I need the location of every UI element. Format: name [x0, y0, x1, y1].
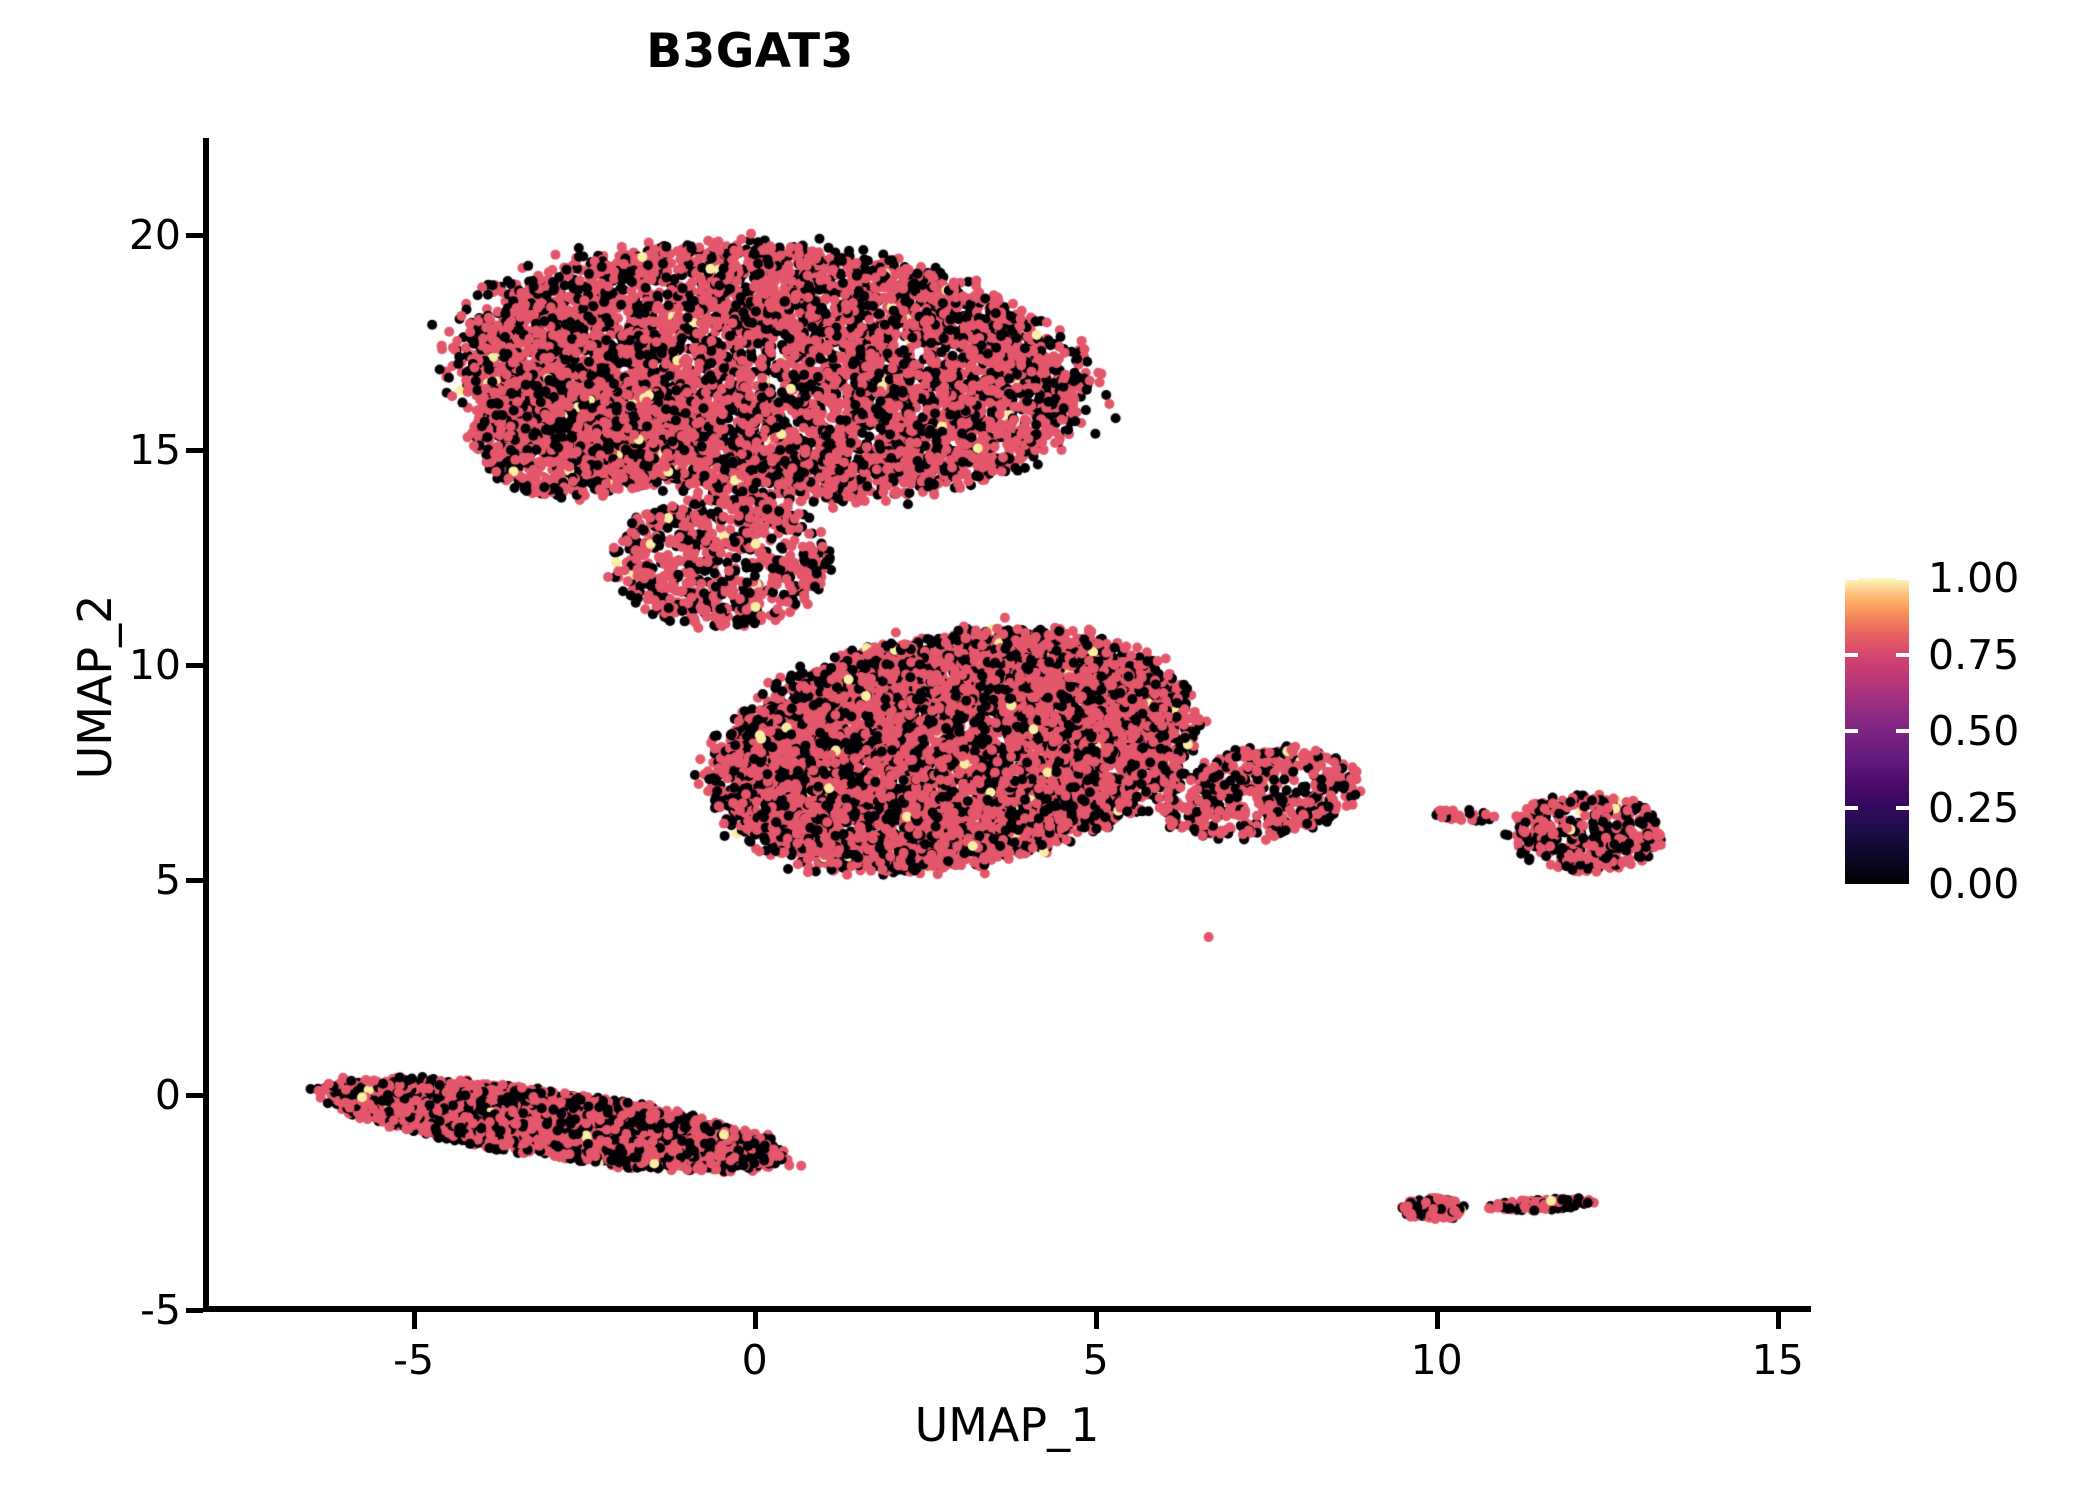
- y-tick-label: 15: [129, 426, 181, 474]
- scatter-points-canvas: [209, 140, 1805, 1310]
- colorbar-tick-label: 0.75: [1928, 631, 2019, 679]
- y-tick-label: -5: [140, 1286, 181, 1334]
- colorbar-tick-label: 0.00: [1928, 860, 2019, 908]
- x-tick-label: -5: [393, 1336, 434, 1384]
- colorbar-tick-label: 0.25: [1928, 784, 2019, 832]
- x-axis-spine: [203, 1306, 1811, 1312]
- plot-area: [209, 140, 1805, 1310]
- page-title: B3GAT3: [0, 26, 1500, 78]
- x-tick-label: 0: [742, 1336, 768, 1384]
- colorbar-tick-label: 0.50: [1928, 707, 2019, 755]
- colorbar-tick-mark: [1896, 729, 1909, 733]
- colorbar-tick-mark: [1845, 806, 1858, 810]
- y-tick-label: 0: [155, 1071, 181, 1119]
- colorbar: [1845, 578, 1909, 884]
- y-tick-mark: [186, 1093, 203, 1098]
- x-axis-label: UMAP_1: [209, 1398, 1805, 1452]
- y-tick-label: 20: [129, 211, 181, 259]
- y-tick-label: 10: [129, 641, 181, 689]
- x-tick-mark: [1094, 1312, 1099, 1329]
- y-tick-mark: [186, 1308, 203, 1313]
- x-tick-mark: [412, 1312, 417, 1329]
- y-tick-mark: [186, 448, 203, 453]
- x-tick-label: 10: [1411, 1336, 1463, 1384]
- x-tick-mark: [1776, 1312, 1781, 1329]
- x-tick-label: 5: [1083, 1336, 1109, 1384]
- x-tick-mark: [753, 1312, 758, 1329]
- colorbar-tick-mark: [1896, 576, 1909, 580]
- colorbar-tick-mark: [1896, 806, 1909, 810]
- x-tick-label: 15: [1752, 1336, 1804, 1384]
- y-tick-mark: [186, 233, 203, 238]
- colorbar-tick-mark: [1845, 576, 1858, 580]
- colorbar-tick-label: 1.00: [1928, 554, 2019, 602]
- y-tick-label: 5: [155, 856, 181, 904]
- y-tick-mark: [186, 878, 203, 883]
- y-tick-mark: [186, 663, 203, 668]
- umap-feature-plot: B3GAT3 -5051015 20151050-5 UMAP_1 UMAP_2…: [0, 0, 2100, 1500]
- colorbar-tick-mark: [1845, 729, 1858, 733]
- x-tick-mark: [1435, 1312, 1440, 1329]
- y-axis-spine: [203, 138, 209, 1312]
- colorbar-tick-mark: [1845, 653, 1858, 657]
- y-axis-label: UMAP_2: [68, 377, 122, 997]
- colorbar-tick-mark: [1896, 653, 1909, 657]
